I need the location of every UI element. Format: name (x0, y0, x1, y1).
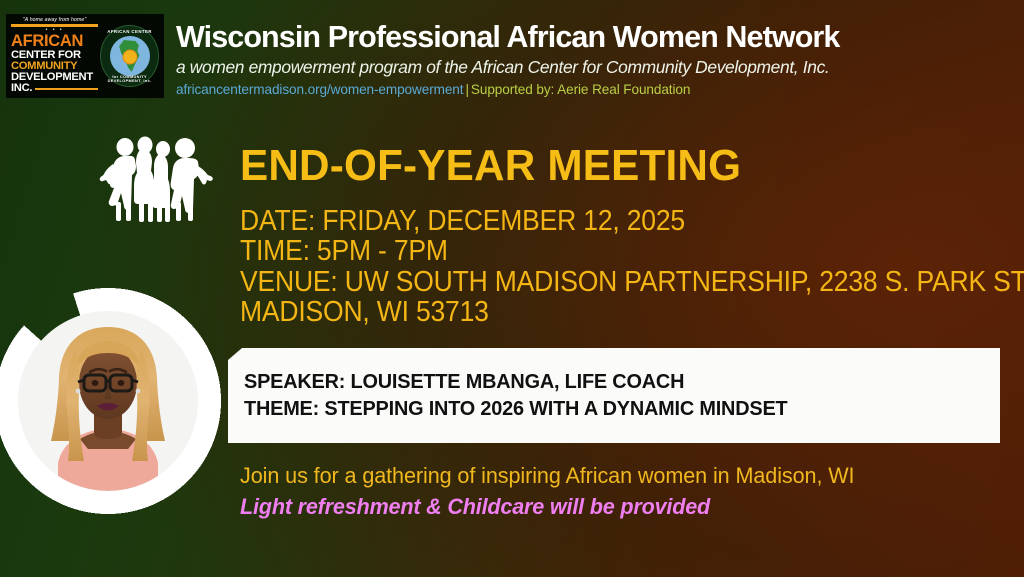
supported-by-text: Supported by: Aerie Real Foundation (471, 82, 690, 97)
african-center-seal-icon: AFRICAN CENTER for COMMUNITY DEVELOPMENT… (100, 25, 159, 87)
header-text-block: Wisconsin Professional African Women Net… (176, 22, 1022, 97)
event-title: END-OF-YEAR MEETING (240, 144, 741, 188)
logo-line-inc-row: INC. (11, 83, 98, 94)
theme-line: THEME: STEPPING INTO 2026 WITH A DYNAMIC… (244, 396, 977, 422)
seal-top-text: AFRICAN CENTER (101, 29, 158, 34)
event-venue-line-1: VENUE: UW SOUTH MADISON PARTNERSHIP, 223… (240, 267, 975, 297)
logo-wordmark: "A home away from home" • • • AFRICAN CE… (11, 18, 98, 95)
event-time-line: TIME: 5PM - 7PM (240, 236, 975, 266)
organization-subtitle: a women empowerment program of the Afric… (176, 57, 1022, 79)
footer-block: Join us for a gathering of inspiring Afr… (240, 462, 1020, 521)
logo-rule-bottom (35, 88, 98, 90)
refreshment-note-text: Light refreshment & Childcare will be pr… (240, 493, 989, 521)
seal-globe-icon (110, 36, 150, 76)
event-venue-line-2: MADISON, WI 53713 (240, 297, 975, 327)
header-links: africancentermadison.org/women-empowerme… (176, 82, 1022, 97)
african-center-logo: "A home away from home" • • • AFRICAN CE… (6, 14, 164, 98)
logo-tagline: "A home away from home" (11, 18, 98, 23)
header-bar: "A home away from home" • • • AFRICAN CE… (0, 0, 1024, 116)
speaker-theme-box: SPEAKER: LOUISETTE MBANGA, LIFE COACH TH… (228, 348, 1000, 443)
organization-title: Wisconsin Professional African Women Net… (176, 22, 1022, 54)
sun-icon (123, 50, 136, 63)
logo-line-inc: INC. (11, 83, 32, 94)
logo-line-african: AFRICAN (11, 33, 98, 50)
women-group-silhouette-icon (96, 134, 216, 226)
event-details: DATE: FRIDAY, DECEMBER 12, 2025 TIME: 5P… (240, 206, 975, 328)
avatar (18, 311, 198, 491)
link-separator: | (465, 82, 468, 97)
join-invitation-text: Join us for a gathering of inspiring Afr… (240, 462, 989, 490)
speaker-line: SPEAKER: LOUISETTE MBANGA, LIFE COACH (244, 369, 977, 395)
speaker-portrait (0, 287, 222, 515)
event-date-line: DATE: FRIDAY, DECEMBER 12, 2025 (240, 206, 975, 236)
seal-bottom-text: for COMMUNITY DEVELOPMENT, Inc. (101, 75, 158, 83)
event-flyer: "A home away from home" • • • AFRICAN CE… (0, 0, 1024, 577)
website-url-link[interactable]: africancentermadison.org/women-empowerme… (176, 82, 463, 97)
